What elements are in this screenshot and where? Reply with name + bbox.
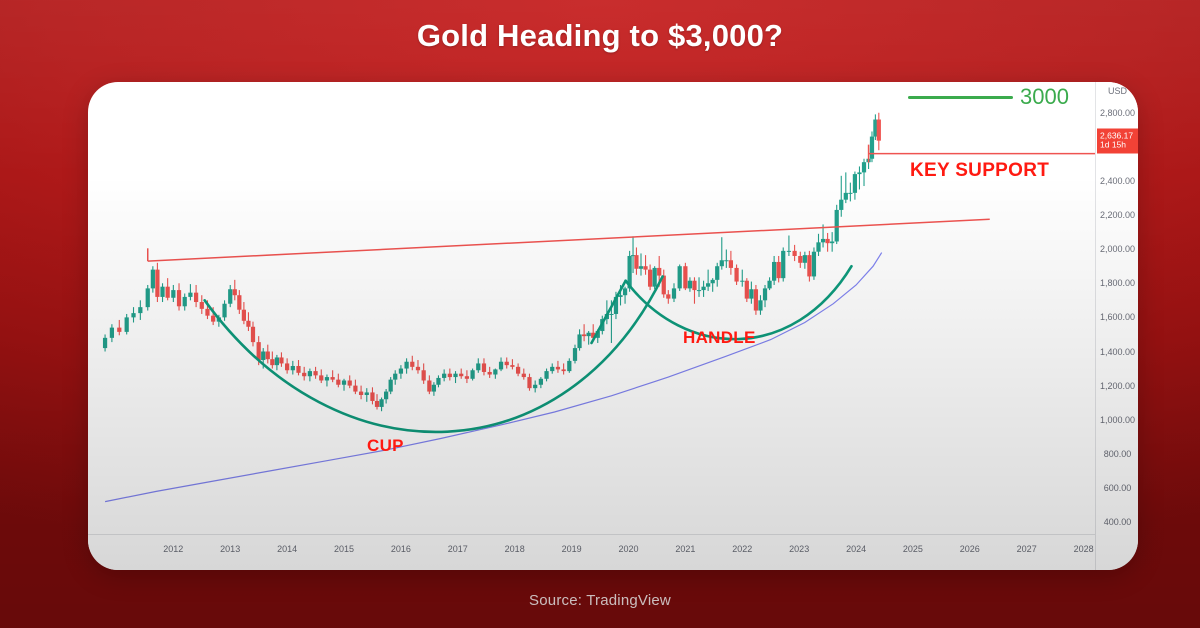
time-tick: 2021 bbox=[675, 544, 695, 554]
source-caption: Source: TradingView bbox=[0, 592, 1200, 609]
time-tick: 2026 bbox=[960, 544, 980, 554]
annotation-cup: CUP bbox=[367, 436, 404, 456]
price-tick: 600.00 bbox=[1096, 483, 1138, 493]
time-tick: 2012 bbox=[163, 544, 183, 554]
time-tick: 2024 bbox=[846, 544, 866, 554]
candlestick-chart bbox=[88, 82, 1095, 534]
price-tick: 2,000.00 bbox=[1096, 244, 1138, 254]
time-tick: 2016 bbox=[391, 544, 411, 554]
time-tick: 2013 bbox=[220, 544, 240, 554]
last-price-badge: 2,636.17 1d 15h bbox=[1097, 128, 1138, 153]
price-tick: 2,200.00 bbox=[1096, 210, 1138, 220]
time-tick: 2028 bbox=[1074, 544, 1094, 554]
time-tick: 2020 bbox=[618, 544, 638, 554]
price-scale-axis[interactable]: USD 2,800.002,600.002,400.002,200.002,00… bbox=[1095, 82, 1138, 570]
price-tick: 2,400.00 bbox=[1096, 176, 1138, 186]
price-tick: 400.00 bbox=[1096, 517, 1138, 527]
time-scale-axis[interactable]: 2012201320142015201620172018201920202021… bbox=[88, 534, 1095, 570]
time-tick: 2018 bbox=[505, 544, 525, 554]
chart-card: USD 2,800.002,600.002,400.002,200.002,00… bbox=[88, 82, 1138, 570]
time-tick: 2023 bbox=[789, 544, 809, 554]
price-tick: 1,600.00 bbox=[1096, 312, 1138, 322]
annotation-target-3000: 3000 bbox=[1020, 84, 1069, 110]
time-tick: 2022 bbox=[732, 544, 752, 554]
countdown-value: 1d 15h bbox=[1100, 141, 1137, 151]
annotation-handle: HANDLE bbox=[683, 328, 756, 348]
poster-canvas: Gold Heading to $3,000? USD 2,800.002,60… bbox=[0, 0, 1200, 628]
price-tick: 1,200.00 bbox=[1096, 381, 1138, 391]
time-tick: 2015 bbox=[334, 544, 354, 554]
price-tick: 1,000.00 bbox=[1096, 415, 1138, 425]
time-tick: 2025 bbox=[903, 544, 923, 554]
time-tick: 2019 bbox=[562, 544, 582, 554]
page-title: Gold Heading to $3,000? bbox=[0, 18, 1200, 54]
time-tick: 2014 bbox=[277, 544, 297, 554]
time-tick: 2027 bbox=[1017, 544, 1037, 554]
price-tick: 1,400.00 bbox=[1096, 347, 1138, 357]
price-tick: 1,800.00 bbox=[1096, 278, 1138, 288]
price-tick: 800.00 bbox=[1096, 449, 1138, 459]
price-scale-unit: USD bbox=[1096, 86, 1138, 96]
annotation-key-support: KEY SUPPORT bbox=[910, 160, 1049, 182]
chart-plot-area[interactable] bbox=[88, 82, 1095, 534]
target-line-3000 bbox=[908, 96, 1013, 99]
time-tick: 2017 bbox=[448, 544, 468, 554]
price-tick: 2,800.00 bbox=[1096, 108, 1138, 118]
